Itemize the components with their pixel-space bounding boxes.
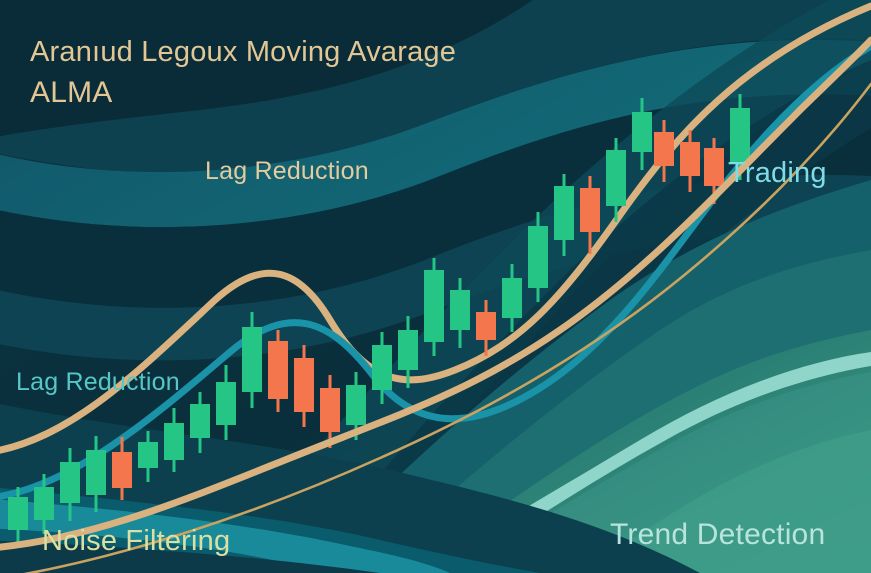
label-lag-reduction-top: Lag Reduction (205, 157, 369, 186)
candle-body-8 (216, 382, 236, 425)
candle-body-15 (398, 330, 418, 370)
candle-body-6 (164, 423, 184, 460)
label-trading: Trading (728, 157, 827, 190)
candle-body-27 (704, 148, 724, 186)
candle-series (8, 94, 750, 546)
candle-body-10 (268, 341, 288, 399)
candle-body-20 (528, 226, 548, 288)
candle-body-18 (476, 312, 496, 340)
candlestick-chart (0, 0, 871, 573)
candle-body-19 (502, 278, 522, 318)
candle-body-14 (372, 345, 392, 390)
candle-body-0 (8, 497, 28, 530)
page-title: Aranıud Legoux Moving Avarage (30, 36, 456, 69)
candle-body-9 (242, 327, 262, 392)
candle-body-22 (580, 188, 600, 232)
candle-body-26 (680, 142, 700, 176)
candle-body-12 (320, 388, 340, 432)
page-subtitle: ALMA (30, 76, 113, 110)
candle-body-7 (190, 404, 210, 438)
candle-body-16 (424, 270, 444, 342)
candle-body-23 (606, 150, 626, 206)
label-lag-reduction-left: Lag Reduction (16, 368, 180, 397)
alma-infographic-canvas: Aranıud Legoux Moving Avarage ALMA Lag R… (0, 0, 871, 573)
candle-body-21 (554, 186, 574, 240)
candle-body-28 (730, 108, 750, 162)
moving-average-lines-back (0, 6, 871, 498)
candle-body-11 (294, 358, 314, 412)
candle-body-4 (112, 452, 132, 488)
candle-body-24 (632, 112, 652, 152)
candle-body-25 (654, 132, 674, 166)
candle-body-17 (450, 290, 470, 330)
candle-body-1 (34, 487, 54, 520)
label-trend-detection: Trend Detection (610, 518, 825, 552)
label-noise-filtering: Noise Filtering (42, 525, 230, 558)
candle-body-3 (86, 450, 106, 495)
candle-body-2 (60, 462, 80, 503)
candle-body-5 (138, 442, 158, 468)
candle-body-13 (346, 385, 366, 425)
